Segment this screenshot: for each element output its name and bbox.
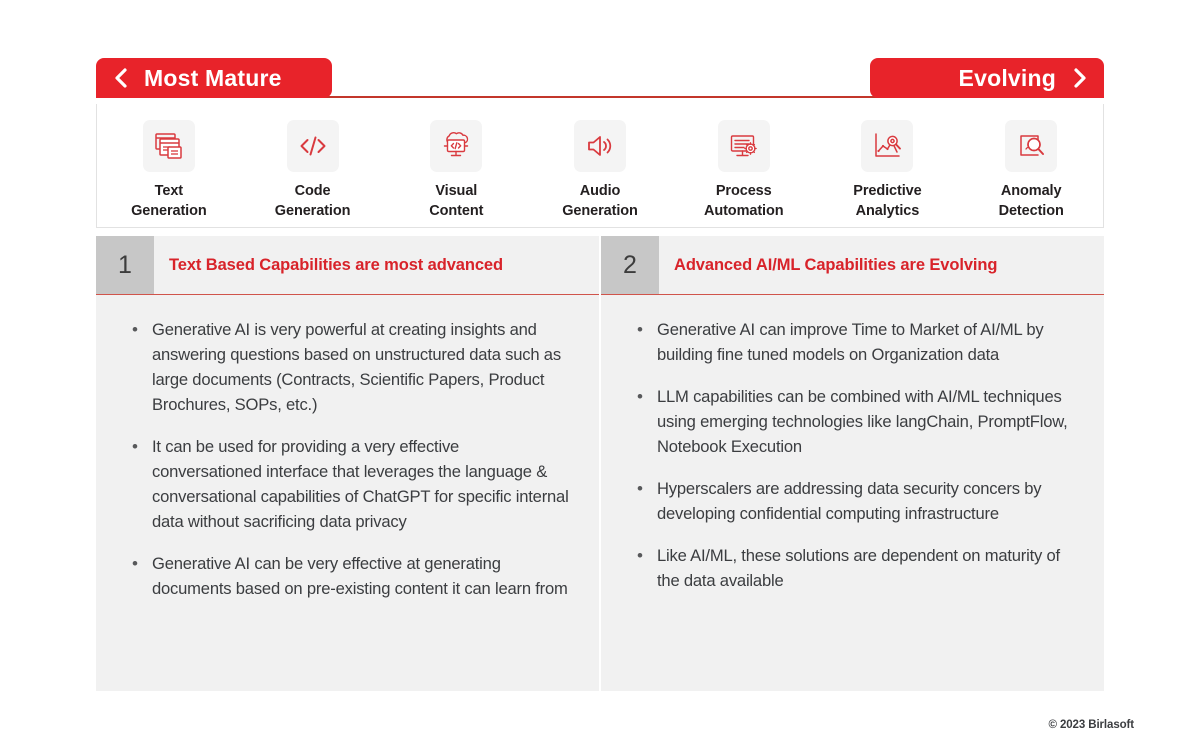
- label-line-1: Text: [155, 183, 183, 199]
- anomaly-detection-icon: [1005, 120, 1057, 172]
- capability-label: Process Automation: [704, 181, 784, 221]
- bullet-glyph: •: [126, 551, 152, 601]
- text-generation-icon: [143, 120, 195, 172]
- bullet-glyph: •: [631, 476, 657, 526]
- capability-label: Text Generation: [131, 181, 207, 221]
- evolving-label: Evolving: [959, 65, 1056, 92]
- list-item: • It can be used for providing a very ef…: [126, 434, 573, 534]
- list-item: • Generative AI is very powerful at crea…: [126, 317, 573, 417]
- bullet-text: Hyperscalers are addressing data securit…: [657, 476, 1078, 526]
- bullet-text: Generative AI can improve Time to Market…: [657, 317, 1078, 367]
- bullet-text: Like AI/ML, these solutions are dependen…: [657, 543, 1078, 593]
- column-header: 2 Advanced AI/ML Capabilities are Evolvi…: [601, 236, 1104, 295]
- label-line-1: Audio: [580, 183, 621, 199]
- column-number-badge: 1: [96, 236, 154, 294]
- maturity-banner: Most Mature Evolving: [96, 58, 1104, 98]
- column-header: 1 Text Based Capabilities are most advan…: [96, 236, 599, 295]
- list-item: • Hyperscalers are addressing data secur…: [631, 476, 1078, 526]
- label-line-1: Predictive: [853, 183, 921, 199]
- capability-item-visual-content[interactable]: Visual Content: [384, 104, 528, 227]
- column-body: • Generative AI can improve Time to Mark…: [601, 295, 1104, 691]
- label-line-2: Analytics: [856, 203, 920, 219]
- label-line-2: Generation: [131, 203, 207, 219]
- capability-label: Predictive Analytics: [853, 181, 921, 221]
- copyright-footer: © 2023 Birlasoft: [1049, 719, 1135, 731]
- list-item: • Generative AI can be very effective at…: [126, 551, 573, 601]
- code-generation-icon: [287, 120, 339, 172]
- bullet-glyph: •: [126, 317, 152, 417]
- label-line-1: Code: [295, 183, 331, 199]
- list-item: • LLM capabilities can be combined with …: [631, 384, 1078, 459]
- bullet-text: Generative AI can be very effective at g…: [152, 551, 573, 601]
- bullet-text: Generative AI is very powerful at creati…: [152, 317, 573, 417]
- capability-item-audio-generation[interactable]: Audio Generation: [528, 104, 672, 227]
- visual-content-icon: [430, 120, 482, 172]
- list-item: • Like AI/ML, these solutions are depend…: [631, 543, 1078, 593]
- column-title: Advanced AI/ML Capabilities are Evolving: [659, 256, 997, 275]
- capability-label: Anomaly Detection: [999, 181, 1064, 221]
- bullet-text: LLM capabilities can be combined with AI…: [657, 384, 1078, 459]
- capability-icon-strip: Text Generation Code Generation: [96, 104, 1104, 228]
- capability-item-process-automation[interactable]: Process Automation: [672, 104, 816, 227]
- capability-item-text-generation[interactable]: Text Generation: [97, 104, 241, 227]
- most-mature-label: Most Mature: [144, 65, 282, 92]
- audio-generation-icon: [574, 120, 626, 172]
- capability-item-predictive-analytics[interactable]: Predictive Analytics: [816, 104, 960, 227]
- predictive-analytics-icon: [861, 120, 913, 172]
- process-automation-icon: [718, 120, 770, 172]
- evolving-pill[interactable]: Evolving: [870, 58, 1104, 98]
- insight-column-1: 1 Text Based Capabilities are most advan…: [96, 236, 599, 690]
- label-line-2: Generation: [275, 203, 351, 219]
- capability-label: Code Generation: [275, 181, 351, 221]
- bullet-glyph: •: [126, 434, 152, 534]
- label-line-2: Detection: [999, 203, 1064, 219]
- chevron-left-icon[interactable]: [110, 66, 130, 90]
- capability-item-anomaly-detection[interactable]: Anomaly Detection: [959, 104, 1103, 227]
- most-mature-pill[interactable]: Most Mature: [96, 58, 332, 98]
- list-item: • Generative AI can improve Time to Mark…: [631, 317, 1078, 367]
- bullet-glyph: •: [631, 384, 657, 459]
- column-title: Text Based Capabilities are most advance…: [154, 256, 503, 275]
- label-line-2: Content: [429, 203, 483, 219]
- label-line-1: Process: [716, 183, 772, 199]
- capability-item-code-generation[interactable]: Code Generation: [241, 104, 385, 227]
- chevron-right-icon[interactable]: [1070, 66, 1090, 90]
- label-line-2: Generation: [562, 203, 638, 219]
- label-line-2: Automation: [704, 203, 784, 219]
- insight-column-2: 2 Advanced AI/ML Capabilities are Evolvi…: [601, 236, 1104, 690]
- column-number-badge: 2: [601, 236, 659, 294]
- label-line-1: Anomaly: [1001, 183, 1062, 199]
- column-body: • Generative AI is very powerful at crea…: [96, 295, 599, 691]
- bullet-glyph: •: [631, 543, 657, 593]
- capability-label: Visual Content: [429, 181, 483, 221]
- capability-label: Audio Generation: [562, 181, 638, 221]
- bullet-text: It can be used for providing a very effe…: [152, 434, 573, 534]
- bullet-glyph: •: [631, 317, 657, 367]
- label-line-1: Visual: [435, 183, 477, 199]
